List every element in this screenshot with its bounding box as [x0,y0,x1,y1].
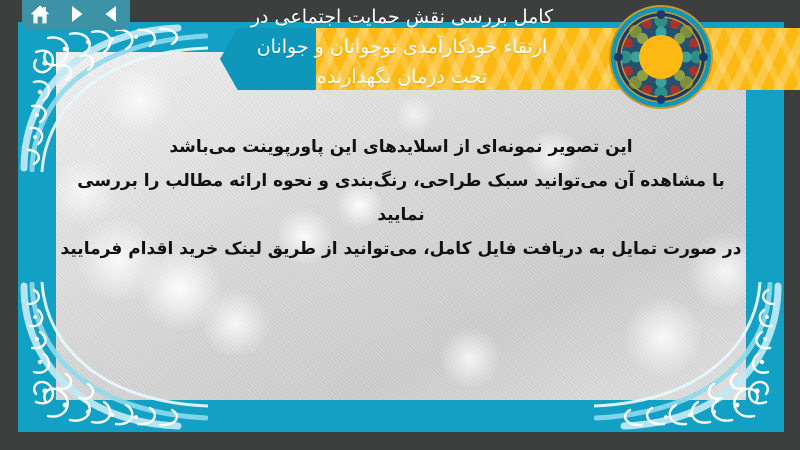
slide-title: کامل بررسی نقش حمایت اجتماعی در ارتقاء خ… [120,2,684,92]
home-button[interactable] [27,2,53,26]
slide-viewer: این تصویر نمونه‌ای از اسلایدهای این پاور… [0,0,800,450]
persian-medallion-icon [608,4,714,110]
forward-button[interactable] [63,2,89,26]
home-icon [29,4,51,25]
triangle-left-icon [102,4,122,24]
navigation-bar [22,0,130,30]
triangle-right-icon [66,4,86,24]
slide-body-text: این تصویر نمونه‌ای از اسلایدهای این پاور… [18,130,784,266]
back-button[interactable] [99,2,125,26]
